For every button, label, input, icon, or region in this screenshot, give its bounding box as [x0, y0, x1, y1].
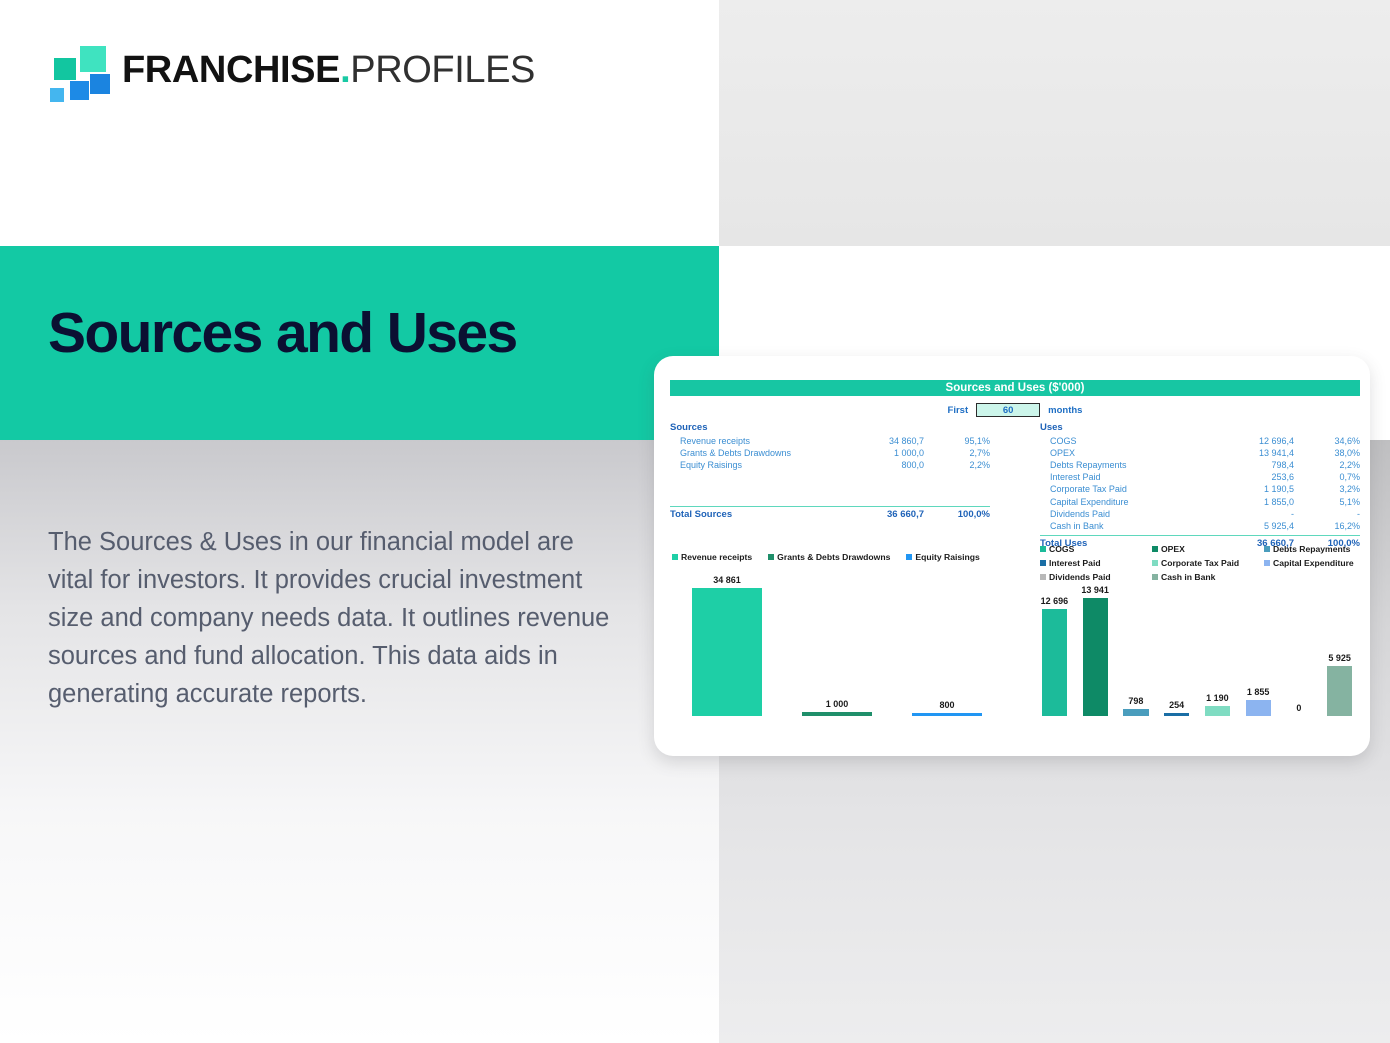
row-label: Cash in Bank — [1040, 520, 1212, 532]
bar-value-label: 34 861 — [713, 575, 741, 585]
table-spacer — [670, 488, 990, 496]
row-label: Grants & Debts Drawdowns — [670, 447, 842, 459]
chart-bar — [1042, 609, 1067, 716]
row-label: Interest Paid — [1040, 472, 1212, 484]
table-spacer — [670, 496, 990, 504]
sheet-title: Sources and Uses ($'000) — [670, 380, 1360, 396]
brand-name-light: PROFILES — [350, 49, 535, 91]
chart-bar-column: 1 190 — [1197, 562, 1238, 716]
table-row: Corporate Tax Paid 1 190,5 3,2% — [1040, 484, 1360, 496]
legend-label: Equity Raisings — [915, 552, 979, 562]
row-percent: 38,0% — [1294, 447, 1360, 459]
row-label: OPEX — [1040, 447, 1212, 459]
row-label: Capital Expenditure — [1040, 496, 1212, 508]
brand-name-dot: . — [340, 49, 350, 91]
spreadsheet: Sources and Uses ($'000) First months So… — [662, 380, 1362, 740]
row-value: 798,4 — [1212, 459, 1294, 471]
row-value: 12 696,4 — [1212, 435, 1294, 447]
background-panel-top-left — [0, 0, 719, 246]
legend-swatch-icon — [1040, 546, 1046, 552]
row-value: 13 941,4 — [1212, 447, 1294, 459]
chart-bar — [912, 713, 982, 716]
table-row: Equity Raisings 800,0 2,2% — [670, 459, 990, 471]
table-row: Capital Expenditure 1 855,0 5,1% — [1040, 496, 1360, 508]
chart-bar-column: 1 855 — [1238, 562, 1279, 716]
row-label: Equity Raisings — [670, 459, 842, 471]
bar-value-label: 800 — [939, 700, 954, 710]
legend-swatch-icon — [906, 554, 912, 560]
sources-bar-chart: 34 8611 000800 — [672, 562, 1002, 730]
row-label: Dividends Paid — [1040, 508, 1212, 520]
total-percent: 100,0% — [924, 509, 990, 520]
row-percent: 16,2% — [1294, 520, 1360, 532]
table-row: Grants & Debts Drawdowns 1 000,0 2,7% — [670, 447, 990, 459]
row-value: - — [1212, 508, 1294, 520]
table-row: Dividends Paid - - — [1040, 508, 1360, 520]
bar-value-label: 13 941 — [1081, 585, 1109, 595]
chart-bar-column: 13 941 — [1075, 562, 1116, 716]
table-row: Interest Paid 253,6 0,7% — [1040, 472, 1360, 484]
total-value: 36 660,7 — [842, 509, 924, 520]
chart-bar — [802, 712, 872, 716]
table-row: OPEX 13 941,4 38,0% — [1040, 447, 1360, 459]
chart-bar — [1164, 713, 1189, 716]
bar-value-label: 12 696 — [1041, 596, 1069, 606]
legend-item: COGS — [1040, 544, 1152, 554]
slide-canvas: FRANCHISE.PROFILES Sources and Uses The … — [0, 0, 1390, 1043]
row-percent: 2,2% — [1294, 459, 1360, 471]
table-spacer — [670, 480, 990, 488]
period-selector[interactable]: First months — [670, 402, 1360, 418]
total-label: Total Sources — [670, 509, 842, 520]
legend-label: Revenue receipts — [681, 552, 752, 562]
sources-chart-legend: Revenue receiptsGrants & Debts Drawdowns… — [672, 552, 994, 562]
uses-heading: Uses — [1040, 422, 1360, 435]
row-label: Debts Repayments — [1040, 459, 1212, 471]
table-spacer — [670, 472, 990, 480]
legend-label: OPEX — [1161, 544, 1185, 554]
chart-bar — [1246, 700, 1271, 716]
bar-value-label: 1 000 — [826, 699, 849, 709]
chart-bar — [1083, 598, 1108, 716]
legend-swatch-icon — [768, 554, 774, 560]
brand-wordmark: FRANCHISE.PROFILES — [122, 49, 535, 92]
uses-bar-chart: 12 69613 9417982541 1901 85505 925 — [1034, 562, 1360, 730]
row-value: 800,0 — [842, 459, 924, 471]
table-row: Cash in Bank 5 925,4 16,2% — [1040, 520, 1360, 532]
row-label: COGS — [1040, 435, 1212, 447]
legend-label: Grants & Debts Drawdowns — [777, 552, 890, 562]
row-label: Corporate Tax Paid — [1040, 484, 1212, 496]
legend-item: Grants & Debts Drawdowns — [768, 552, 890, 562]
period-months-input[interactable] — [976, 403, 1040, 417]
chart-bar-column: 800 — [892, 562, 1002, 716]
sources-heading: Sources — [670, 422, 990, 435]
uses-table: Uses COGS 12 696,4 34,6% OPEX 13 941,4 3… — [1040, 422, 1360, 549]
legend-item: Debts Repayments — [1264, 544, 1362, 554]
row-value: 1 855,0 — [1212, 496, 1294, 508]
row-value: 34 860,7 — [842, 435, 924, 447]
period-prefix-label: First — [948, 405, 969, 416]
row-percent: - — [1294, 508, 1360, 520]
bar-value-label: 5 925 — [1328, 653, 1351, 663]
row-percent: 95,1% — [924, 435, 990, 447]
row-percent: 3,2% — [1294, 484, 1360, 496]
bar-value-label: 0 — [1296, 703, 1301, 713]
period-suffix-label: months — [1048, 405, 1082, 416]
chart-bar-column: 5 925 — [1319, 562, 1360, 716]
row-percent: 2,2% — [924, 459, 990, 471]
bar-value-label: 254 — [1169, 700, 1184, 710]
chart-bar-column: 798 — [1116, 562, 1157, 716]
row-percent: 0,7% — [1294, 472, 1360, 484]
legend-swatch-icon — [1152, 546, 1158, 552]
chart-bar-column: 0 — [1279, 562, 1320, 716]
bar-value-label: 1 855 — [1247, 687, 1270, 697]
chart-bar — [1327, 666, 1352, 716]
legend-label: Debts Repayments — [1273, 544, 1350, 554]
bar-value-label: 1 190 — [1206, 693, 1229, 703]
row-percent: 34,6% — [1294, 435, 1360, 447]
row-percent: 2,7% — [924, 447, 990, 459]
body-paragraph: The Sources & Uses in our financial mode… — [48, 523, 623, 713]
row-percent: 5,1% — [1294, 496, 1360, 508]
sources-table: Sources Revenue receipts 34 860,7 95,1% … — [670, 422, 990, 520]
row-value: 253,6 — [1212, 472, 1294, 484]
legend-item: Revenue receipts — [672, 552, 752, 562]
chart-bar — [1123, 709, 1148, 716]
table-row: Revenue receipts 34 860,7 95,1% — [670, 435, 990, 447]
bar-value-label: 798 — [1128, 696, 1143, 706]
chart-bar-column: 1 000 — [782, 562, 892, 716]
logo-mark-icon — [48, 44, 110, 96]
table-row: Debts Repayments 798,4 2,2% — [1040, 459, 1360, 471]
chart-bar-column: 12 696 — [1034, 562, 1075, 716]
sources-total-row: Total Sources 36 660,7 100,0% — [670, 507, 990, 520]
legend-item: Equity Raisings — [906, 552, 979, 562]
page-title: Sources and Uses — [48, 305, 517, 362]
legend-item: OPEX — [1152, 544, 1264, 554]
chart-bar-column: 254 — [1156, 562, 1197, 716]
background-panel-top-right — [719, 0, 1390, 246]
spreadsheet-card: Sources and Uses ($'000) First months So… — [654, 356, 1370, 756]
row-value: 1 190,5 — [1212, 484, 1294, 496]
table-row: COGS 12 696,4 34,6% — [1040, 435, 1360, 447]
brand-logo: FRANCHISE.PROFILES — [48, 44, 535, 96]
chart-bar — [1205, 706, 1230, 716]
legend-label: COGS — [1049, 544, 1074, 554]
legend-swatch-icon — [1264, 546, 1270, 552]
chart-bar-column: 34 861 — [672, 562, 782, 716]
row-value: 1 000,0 — [842, 447, 924, 459]
brand-name-bold: FRANCHISE — [122, 49, 340, 91]
row-label: Revenue receipts — [670, 435, 842, 447]
row-value: 5 925,4 — [1212, 520, 1294, 532]
legend-swatch-icon — [672, 554, 678, 560]
chart-bar — [692, 588, 762, 716]
